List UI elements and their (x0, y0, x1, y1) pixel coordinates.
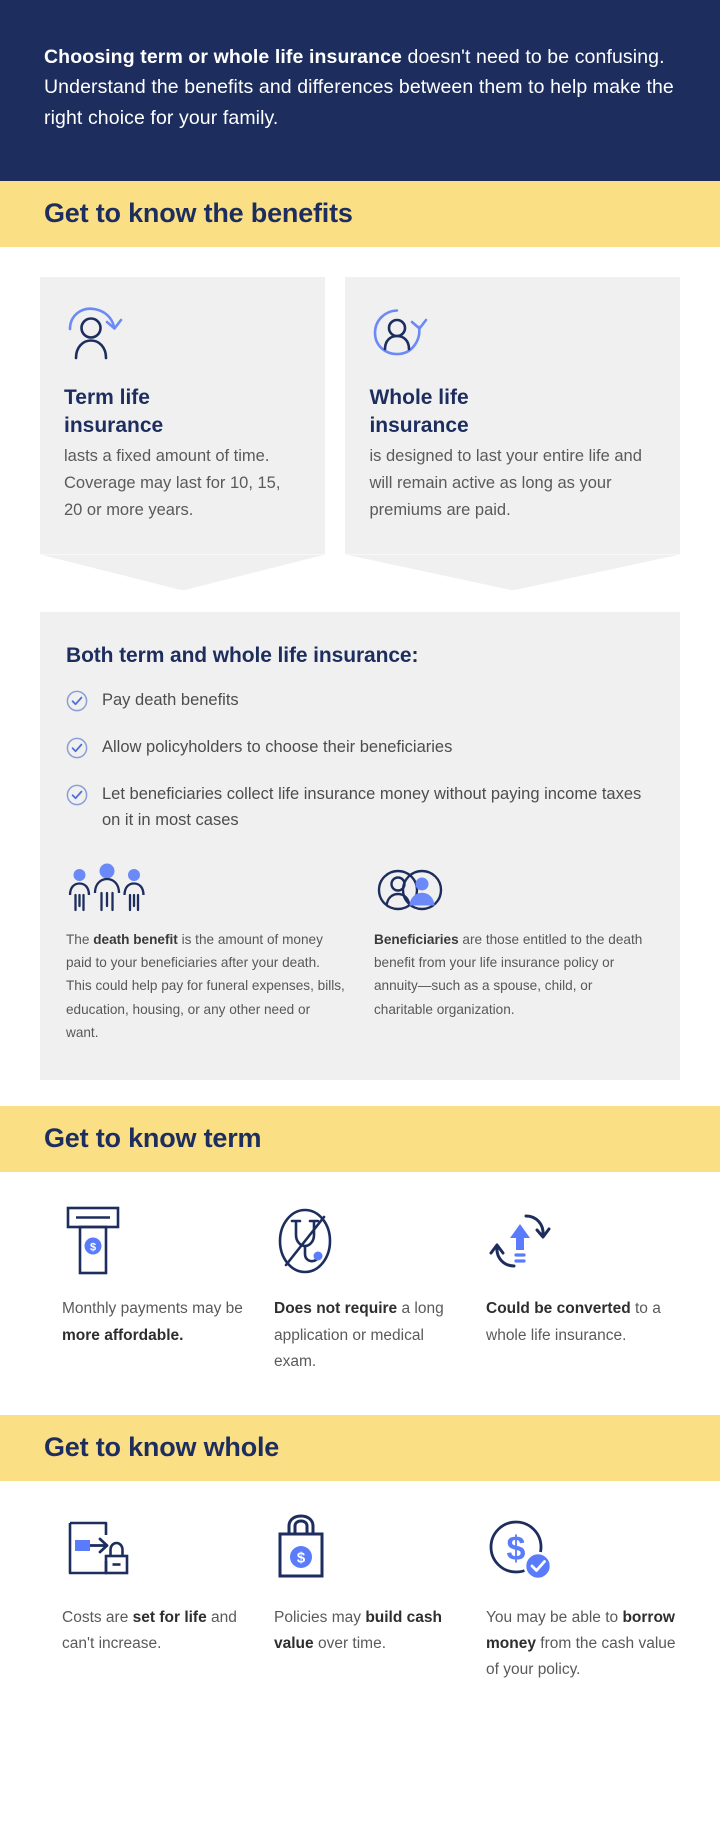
band-term: Get to know term (0, 1106, 720, 1172)
definition-lead: The (66, 932, 93, 947)
definition-death-benefit-text: The death benefit is the amount of money… (66, 928, 346, 1045)
check-list-item: Let beneficiaries collect life insurance… (66, 782, 654, 833)
person-refresh-circle-icon (369, 303, 656, 368)
card-whole-life-body: Whole life insurance is designed to last… (345, 277, 680, 554)
hero-lead: Choosing term or whole life insurance (44, 46, 402, 68)
card-whole-life-text: is designed to last your entire life and… (369, 443, 656, 525)
whole-feature-set-for-life: Costs are set for life and can't increas… (40, 1511, 256, 1683)
feature-rest: over time. (314, 1635, 386, 1652)
card-term-life: Term life insurance lasts a fixed amount… (40, 277, 325, 590)
card-whole-life-title-line2: insurance (369, 414, 468, 437)
whole-feature-cash-value-text: Policies may build cash value over time. (274, 1605, 468, 1657)
definitions-row: The death benefit is the amount of money… (66, 860, 654, 1045)
both-types-title: Both term and whole life insurance: (66, 644, 654, 668)
svg-text:$: $ (507, 1530, 526, 1568)
dollar-check-icon: $ (486, 1511, 680, 1589)
feature-bold: more affordable. (62, 1327, 183, 1344)
definition-beneficiaries: Beneficiaries are those entitled to the … (374, 860, 654, 1045)
definition-rest: is the amount of money paid to your bene… (66, 932, 345, 1041)
band-benefits: Get to know the benefits (0, 181, 720, 247)
card-term-life-body: Term life insurance lasts a fixed amount… (40, 277, 325, 554)
band-benefits-title: Get to know the benefits (44, 198, 676, 229)
locked-document-arrow-icon (62, 1511, 256, 1589)
card-whole-life-title: Whole life insurance (369, 384, 656, 439)
card-whole-life-notch (345, 554, 680, 590)
feature-lead: Costs are (62, 1609, 133, 1626)
group-of-people-icon (66, 860, 346, 914)
check-circle-icon (66, 690, 88, 717)
two-people-circles-icon (374, 860, 654, 914)
definition-beneficiaries-text: Beneficiaries are those entitled to the … (374, 928, 654, 1022)
check-list-item: Pay death benefits (66, 688, 654, 717)
term-feature-convertible-text: Could be converted to a whole life insur… (486, 1296, 680, 1348)
check-list-item-label: Allow policyholders to choose their bene… (102, 735, 452, 761)
feature-lead: Monthly payments may be (62, 1300, 243, 1317)
check-circle-icon (66, 737, 88, 764)
whole-feature-borrow: $ You may be able to borrow money from t… (486, 1511, 680, 1683)
definition-term: Beneficiaries (374, 932, 459, 947)
atm-cash-dispenser-icon: $ (62, 1202, 256, 1280)
hero-banner: Choosing term or whole life insurance do… (0, 0, 720, 181)
card-term-life-title: Term life insurance (64, 384, 301, 439)
bottom-spacer (0, 1723, 720, 1763)
whole-features-row: Costs are set for life and can't increas… (0, 1481, 720, 1723)
benefits-cards-row: Term life insurance lasts a fixed amount… (40, 247, 680, 590)
both-types-panel: Both term and whole life insurance: Pay … (40, 612, 680, 1080)
term-feature-affordable: $ Monthly payments may be more affordabl… (40, 1202, 256, 1374)
check-list-item-label: Pay death benefits (102, 688, 239, 714)
card-term-life-title-line2: insurance (64, 414, 163, 437)
hero-text: Choosing term or whole life insurance do… (44, 42, 676, 133)
term-feature-affordable-text: Monthly payments may be more affordable. (62, 1296, 256, 1348)
check-list-item: Allow policyholders to choose their bene… (66, 735, 654, 764)
person-refresh-arc-icon (64, 303, 301, 368)
card-term-life-title-line1: Term life (64, 386, 150, 409)
feature-bold: Could be converted (486, 1300, 631, 1317)
svg-text:$: $ (297, 1549, 306, 1566)
money-bag-lock-icon: $ (274, 1511, 468, 1589)
feature-bold: set for life (133, 1609, 207, 1626)
whole-feature-set-for-life-text: Costs are set for life and can't increas… (62, 1605, 256, 1657)
whole-feature-borrow-text: You may be able to borrow money from the… (486, 1605, 680, 1683)
card-whole-life-title-line1: Whole life (369, 386, 468, 409)
card-term-life-notch (40, 554, 325, 590)
band-whole-title: Get to know whole (44, 1432, 676, 1463)
check-circle-icon (66, 784, 88, 811)
feature-lead: You may be able to (486, 1609, 622, 1626)
band-term-title: Get to know term (44, 1123, 676, 1154)
band-whole: Get to know whole (0, 1415, 720, 1481)
definition-death-benefit: The death benefit is the amount of money… (66, 860, 346, 1045)
benefits-cards-section: Term life insurance lasts a fixed amount… (0, 247, 720, 1080)
term-features-row: $ Monthly payments may be more affordabl… (0, 1172, 720, 1414)
convert-arrows-up-icon (486, 1202, 680, 1280)
feature-bold: Does not require (274, 1300, 397, 1317)
feature-lead: Policies may (274, 1609, 365, 1626)
svg-text:$: $ (90, 1242, 96, 1254)
term-feature-no-exam-text: Does not require a long application or m… (274, 1296, 468, 1374)
check-list-item-label: Let beneficiaries collect life insurance… (102, 782, 654, 833)
whole-feature-cash-value: $ Policies may build cash value over tim… (274, 1511, 468, 1683)
term-feature-no-exam: Does not require a long application or m… (274, 1202, 468, 1374)
card-whole-life: Whole life insurance is designed to last… (345, 277, 680, 590)
definition-term: death benefit (93, 932, 178, 947)
term-feature-convertible: Could be converted to a whole life insur… (486, 1202, 680, 1374)
spacer (0, 1080, 720, 1106)
no-medical-exam-stethoscope-icon (274, 1202, 468, 1280)
card-term-life-text: lasts a fixed amount of time. Coverage m… (64, 443, 301, 525)
